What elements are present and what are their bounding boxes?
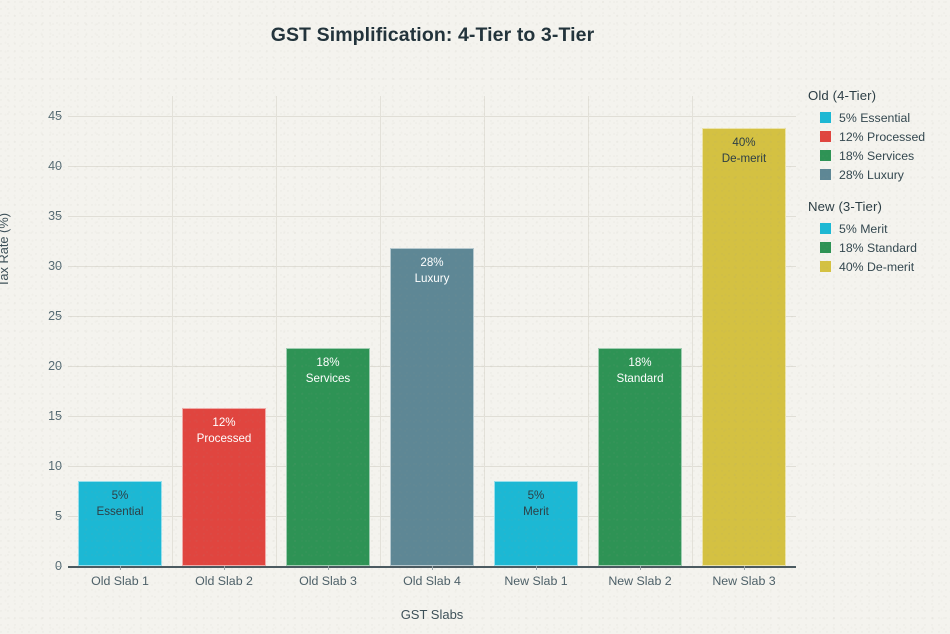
bar-value-label: 40%De-merit [703,135,785,166]
legend-swatch-icon [820,112,831,123]
x-tick-label: New Slab 1 [476,574,596,588]
bar-value-label: 18%Services [287,355,369,386]
chart-legend: Old (4-Tier)5% Essential12% Processed18%… [808,88,950,276]
legend-item[interactable]: 5% Essential [808,108,950,127]
plot-area: 5%Essential12%Processed18%Services28%Lux… [68,96,796,566]
y-tick-mark [57,166,62,167]
legend-item-label: 18% Standard [839,241,917,255]
bar-value-line2: Services [287,371,369,387]
bar-value-line1: 18% [316,356,339,369]
bar-value-line1: 5% [528,489,545,502]
bar-value-line1: 12% [212,416,235,429]
gridline-vertical [276,96,277,566]
bar-value-line2: Standard [599,371,681,387]
bar[interactable]: 18%Services [286,348,370,566]
legend-swatch-icon [820,169,831,180]
legend-item[interactable]: 28% Luxury [808,165,950,184]
bar-value-label: 5%Essential [79,488,161,519]
gridline-horizontal [68,166,796,167]
bar[interactable]: 5%Essential [78,481,162,566]
legend-group-title: Old (4-Tier) [808,88,950,103]
bar[interactable]: 5%Merit [494,481,578,566]
legend-item-label: 40% De-merit [839,260,914,274]
legend-item[interactable]: 18% Standard [808,238,950,257]
x-axis-label: GST Slabs [68,607,796,622]
bar-value-label: 28%Luxury [391,255,473,286]
gridline-horizontal [68,116,796,117]
y-tick-mark [57,516,62,517]
y-axis-label: Tax Rate (%) [0,213,11,287]
y-tick-mark [57,566,62,567]
y-tick-mark [57,116,62,117]
legend-item[interactable]: 12% Processed [808,127,950,146]
legend-item-label: 18% Services [839,149,914,163]
x-tick-mark [536,566,537,570]
x-tick-mark [640,566,641,570]
bar-value-line2: Essential [79,504,161,520]
x-tick-label: New Slab 3 [684,574,804,588]
y-tick-mark [57,316,62,317]
gridline-vertical [692,96,693,566]
bar[interactable]: 12%Processed [182,408,266,566]
bar[interactable]: 28%Luxury [390,248,474,566]
x-tick-label: New Slab 2 [580,574,700,588]
x-tick-label: Old Slab 4 [372,574,492,588]
gridline-horizontal [68,216,796,217]
y-axis-ticks: 051015202530354045 [20,96,62,566]
bar-value-line2: De-merit [703,151,785,167]
legend-swatch-icon [820,223,831,234]
bar-value-line1: 40% [732,136,755,149]
legend-group: New (3-Tier)5% Merit18% Standard40% De-m… [808,199,950,276]
bar-value-label: 18%Standard [599,355,681,386]
x-tick-mark [432,566,433,570]
y-tick-mark [57,466,62,467]
gridline-vertical [484,96,485,566]
gridline-vertical [380,96,381,566]
legend-swatch-icon [820,131,831,142]
chart-title: GST Simplification: 4-Tier to 3-Tier [0,24,865,47]
gridline-vertical [172,96,173,566]
legend-swatch-icon [820,242,831,253]
x-tick-mark [120,566,121,570]
bar-value-line1: 28% [420,256,443,269]
legend-item-label: 5% Merit [839,222,888,236]
legend-item-label: 12% Processed [839,130,925,144]
legend-item-label: 5% Essential [839,111,910,125]
x-tick-label: Old Slab 2 [164,574,284,588]
x-tick-mark [224,566,225,570]
y-tick-mark [57,216,62,217]
bar[interactable]: 40%De-merit [702,128,786,566]
legend-group-title: New (3-Tier) [808,199,950,214]
legend-swatch-icon [820,261,831,272]
bar-value-label: 5%Merit [495,488,577,519]
bar[interactable]: 18%Standard [598,348,682,566]
legend-item[interactable]: 40% De-merit [808,257,950,276]
y-tick-mark [57,266,62,267]
x-tick-mark [744,566,745,570]
bar-value-line2: Processed [183,431,265,447]
legend-item-label: 28% Luxury [839,168,904,182]
legend-item[interactable]: 18% Services [808,146,950,165]
bar-value-line2: Merit [495,504,577,520]
legend-item[interactable]: 5% Merit [808,219,950,238]
legend-group: Old (4-Tier)5% Essential12% Processed18%… [808,88,950,184]
bar-value-line2: Luxury [391,271,473,287]
y-tick-mark [57,366,62,367]
bar-value-line1: 18% [628,356,651,369]
x-tick-mark [328,566,329,570]
gridline-vertical [588,96,589,566]
chart-figure: GST Simplification: 4-Tier to 3-Tier 051… [0,0,950,634]
x-tick-label: Old Slab 1 [60,574,180,588]
legend-swatch-icon [820,150,831,161]
x-tick-label: Old Slab 3 [268,574,388,588]
bar-value-label: 12%Processed [183,415,265,446]
y-tick-mark [57,416,62,417]
bar-value-line1: 5% [112,489,129,502]
